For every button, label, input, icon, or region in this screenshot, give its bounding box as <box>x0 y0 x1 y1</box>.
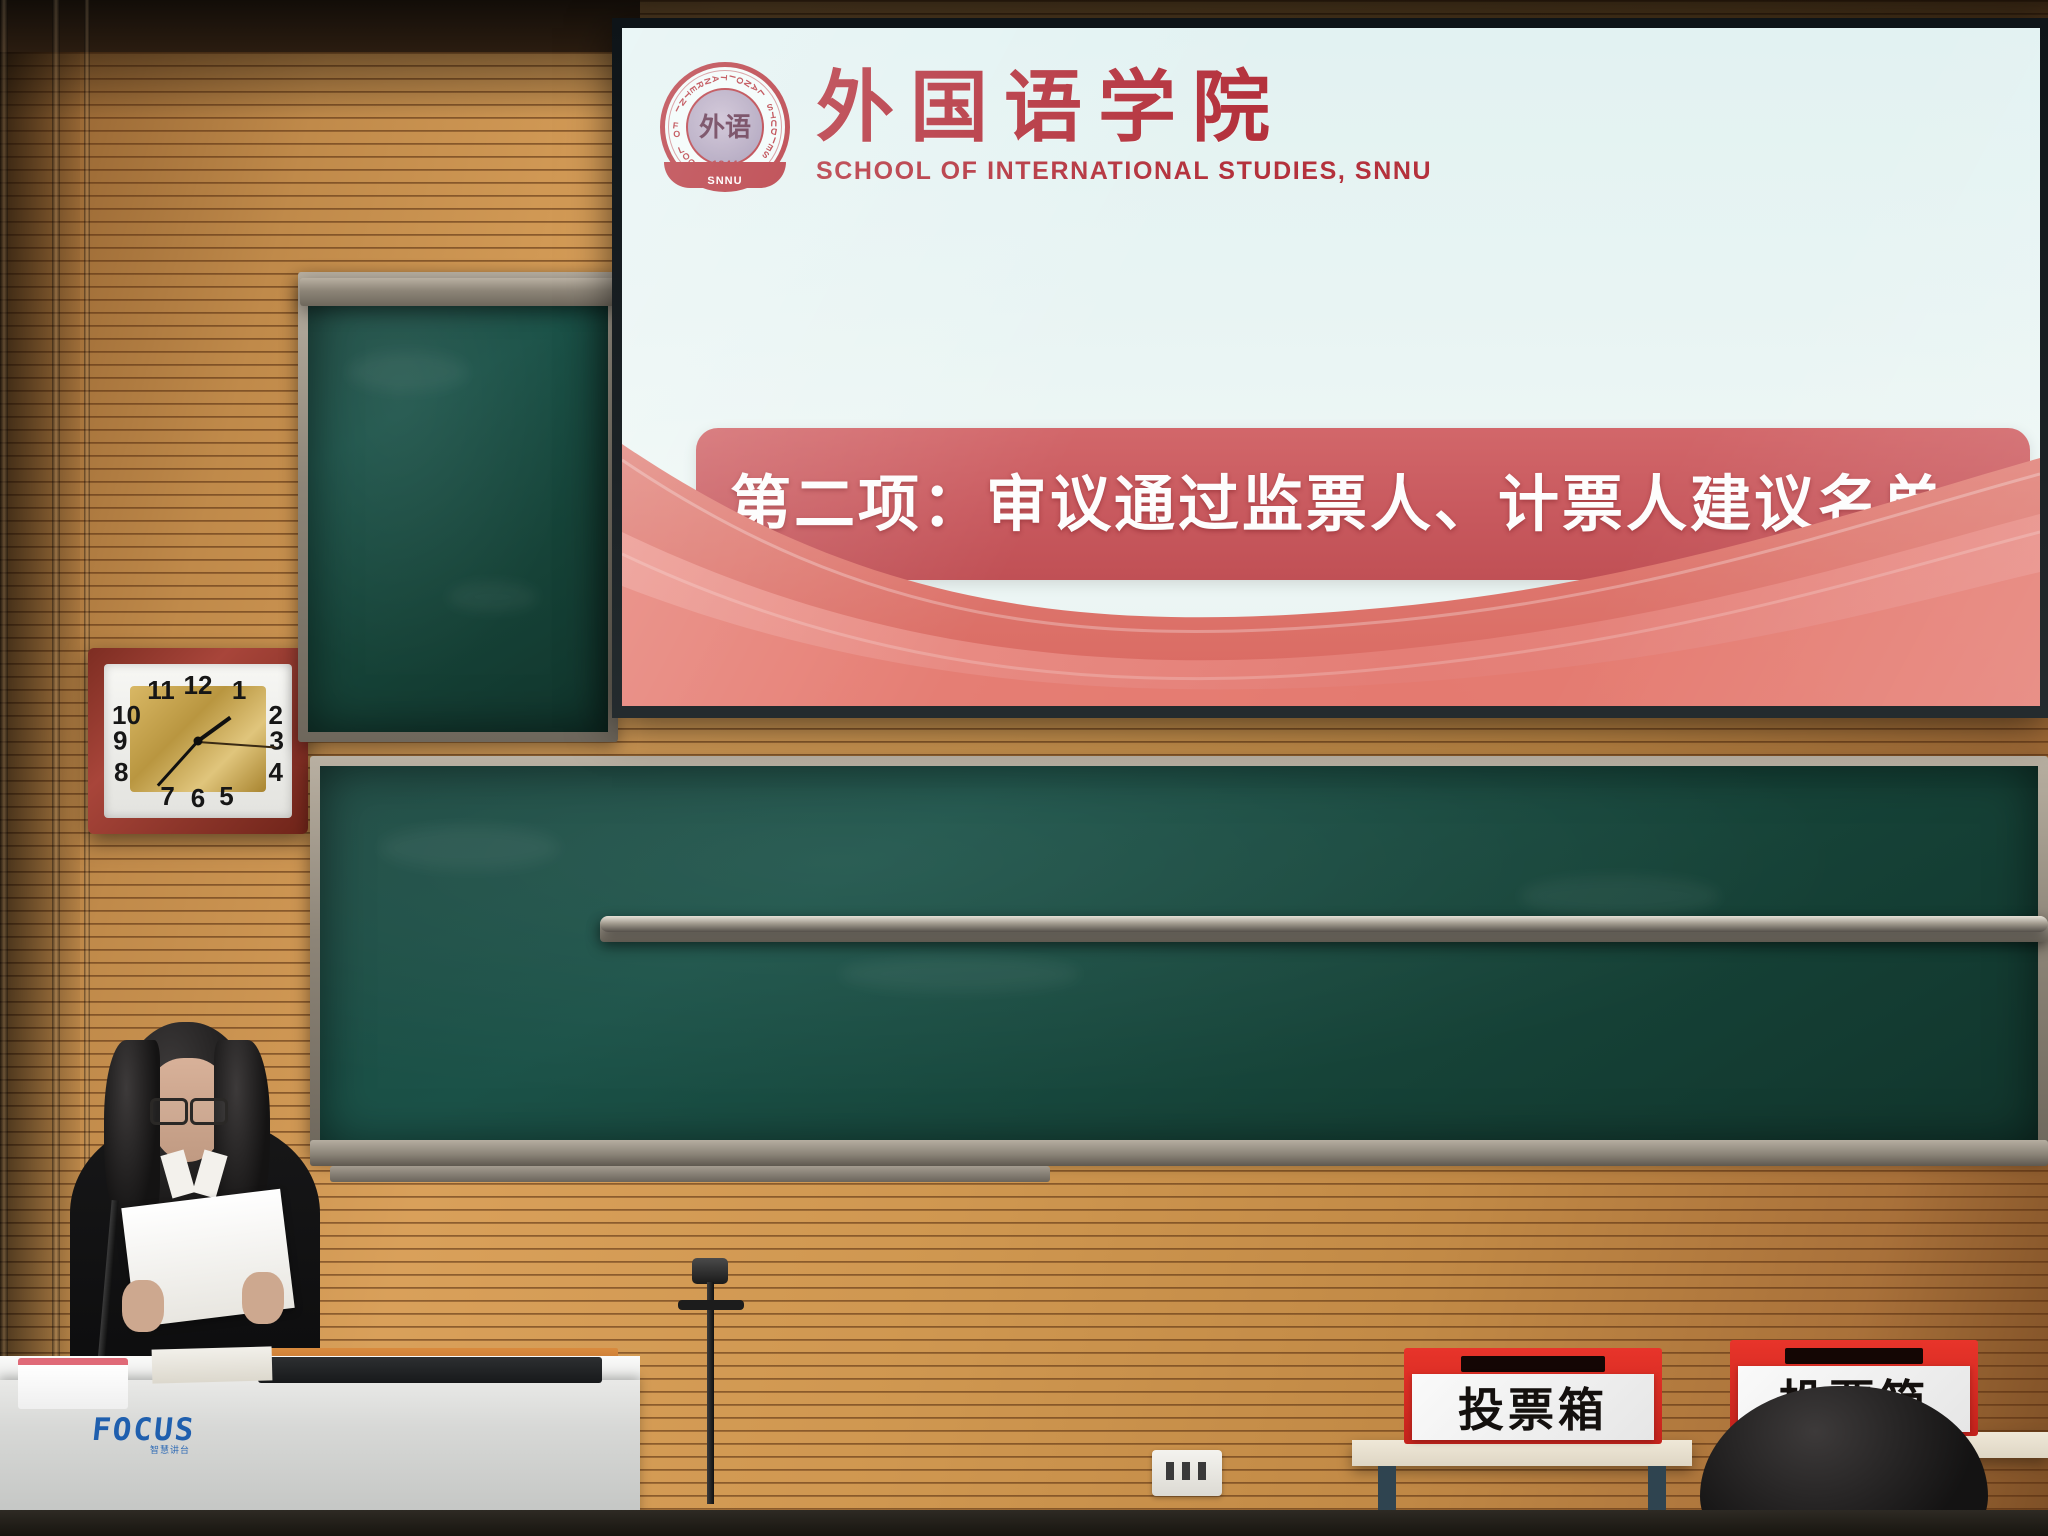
clock-numeral-10: 10 <box>112 700 141 731</box>
speaker-hand-right <box>242 1272 284 1324</box>
blackboard-surface <box>320 766 2038 1146</box>
slide-title-block: 外国语学院 SCHOOL OF INTERNATIONAL STUDIES, S… <box>816 69 1432 186</box>
speaker-glasses-right-lens <box>190 1098 228 1125</box>
floor-strip <box>0 1510 2048 1536</box>
ballot-slot <box>1785 1348 1924 1364</box>
chalk-smudge <box>380 826 560 870</box>
chalk-smudge <box>840 956 1080 992</box>
chalk-tray-lower <box>330 1166 1050 1182</box>
tripod-pole <box>707 1282 714 1504</box>
presentation-slide: 外语 1944 SNNU SCHOOL OF INTERNATIONAL STU… <box>622 28 2040 706</box>
slide-wave-decoration <box>622 436 2040 706</box>
ballot-box-label-plate: 投票箱 <box>1412 1374 1654 1440</box>
wall-seam <box>52 0 60 1536</box>
institution-name-cn: 外国语学院 <box>816 69 1432 147</box>
ballot-slot <box>1461 1356 1605 1372</box>
camera-head <box>692 1258 728 1284</box>
speaker-glasses-left-lens <box>150 1098 188 1125</box>
tissue-box <box>18 1358 128 1409</box>
tripod-arm <box>678 1300 744 1310</box>
clock-dial: 12 1 2 3 4 5 6 7 8 9 10 11 <box>104 664 292 818</box>
speaker-hand-left <box>122 1280 164 1332</box>
chalk-tray <box>310 1140 2048 1166</box>
focus-brand-sublabel: 智慧讲台 <box>150 1443 190 1456</box>
chalk-smudge <box>448 582 538 612</box>
chalk-smudge <box>1520 876 1720 916</box>
power-socket[interactable] <box>1152 1450 1222 1496</box>
clock-numeral-4: 4 <box>269 757 283 788</box>
wave-svg <box>622 436 2040 706</box>
clock-numeral-3: 3 <box>270 726 284 757</box>
blackboard-surface <box>308 282 608 732</box>
institution-name-en: SCHOOL OF INTERNATIONAL STUDIES, SNNU <box>816 157 1432 186</box>
wall-clock: 12 1 2 3 4 5 6 7 8 9 10 11 <box>88 648 308 834</box>
clock-numeral-1: 1 <box>232 675 246 706</box>
clock-numeral-11: 11 <box>147 675 175 706</box>
clock-numeral-5: 5 <box>219 781 233 812</box>
classroom-photo-scene: 12 1 2 3 4 5 6 7 8 9 10 11 <box>0 0 2048 1536</box>
projection-screen-roller <box>600 916 2048 932</box>
ballot-box-center: 投票箱 <box>1404 1348 1662 1444</box>
clock-numeral-7: 7 <box>160 781 174 812</box>
podium-document <box>152 1346 273 1383</box>
clock-numeral-8: 8 <box>114 757 128 788</box>
clock-center-cap <box>194 737 203 746</box>
crest-ring-text: SCHOOL OF INTERNATIONAL STUDIES <box>663 65 787 189</box>
clock-numeral-12: 12 <box>184 670 213 701</box>
slide-header: 外语 1944 SNNU SCHOOL OF INTERNATIONAL STU… <box>660 62 1432 192</box>
wall-seam <box>0 0 8 1536</box>
university-crest-icon: 外语 1944 SNNU SCHOOL OF INTERNATIONAL STU… <box>660 62 790 192</box>
ballot-box-label: 投票箱 <box>1458 1374 1608 1440</box>
clock-numeral-6: 6 <box>191 783 205 814</box>
blackboard-left-rail <box>300 278 618 306</box>
projection-screen: 外语 1944 SNNU SCHOOL OF INTERNATIONAL STU… <box>612 18 2048 718</box>
wall-left-shadow <box>0 0 80 1536</box>
blackboard-main <box>310 756 2048 1156</box>
blackboard-left-upper <box>298 272 618 742</box>
keyboard[interactable] <box>258 1357 602 1383</box>
ceiling-band <box>0 0 640 52</box>
chalk-smudge <box>348 352 468 392</box>
